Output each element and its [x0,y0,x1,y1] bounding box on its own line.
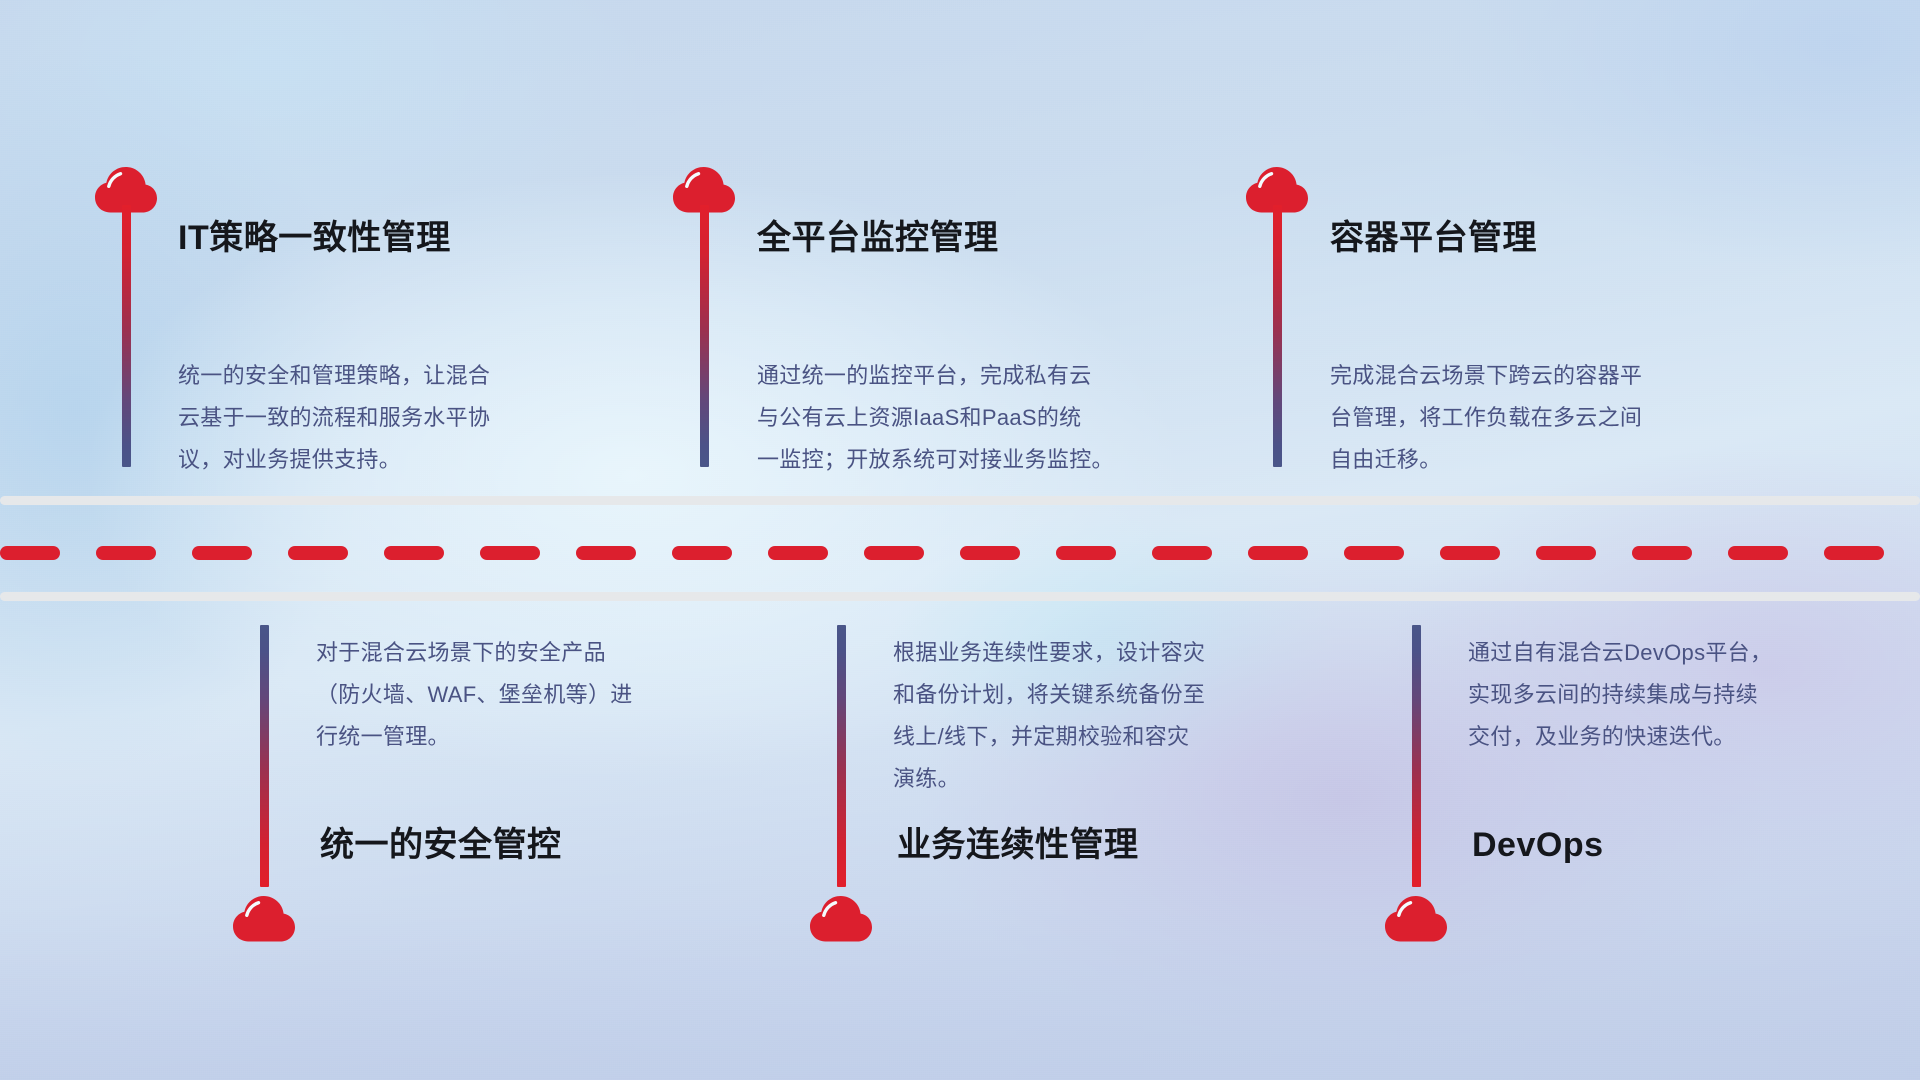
description-line: 根据业务连续性要求，设计容灾 [893,632,1333,674]
dash-segment [1056,546,1116,560]
description-line: （防火墙、WAF、堡垒机等）进 [316,674,756,716]
description-line: 交付，及业务的快速迭代。 [1468,716,1908,758]
divider-line-lower [0,592,1920,601]
dash-segment [1152,546,1212,560]
dash-segment [384,546,444,560]
description-line: 线上/线下，并定期校验和容灾 [893,716,1333,758]
dash-segment [480,546,540,560]
description-line: 云基于一致的流程和服务水平协 [178,397,618,439]
description-line: 议，对业务提供支持。 [178,439,618,481]
dash-segment [192,546,252,560]
description-line: 和备份计划，将关键系统备份至 [893,674,1333,716]
dash-segment [1248,546,1308,560]
item-description: 完成混合云场景下跨云的容器平台管理，将工作负载在多云之间自由迁移。 [1330,355,1770,481]
connector-stem [700,205,709,467]
dash-segment [1344,546,1404,560]
description-line: 通过统一的监控平台，完成私有云 [757,355,1217,397]
dash-segment [672,546,732,560]
divider-line-upper [0,496,1920,505]
description-line: 台管理，将工作负载在多云之间 [1330,397,1770,439]
dash-segment [1440,546,1500,560]
description-line: 演练。 [893,758,1333,800]
item-title: 统一的安全管控 [320,825,562,866]
dash-segment [288,546,348,560]
connector-stem [1273,205,1282,467]
connector-stem [837,625,846,887]
dashed-separator [0,546,1920,560]
description-line: 自由迁移。 [1330,439,1770,481]
description-line: 通过自有混合云DevOps平台， [1468,632,1908,674]
item-title: 容器平台管理 [1330,218,1537,259]
description-line: 行统一管理。 [316,716,756,758]
dash-segment [1728,546,1788,560]
item-description: 对于混合云场景下的安全产品（防火墙、WAF、堡垒机等）进行统一管理。 [316,632,756,758]
infographic-canvas: IT策略一致性管理 统一的安全和管理策略，让混合云基于一致的流程和服务水平协议，… [0,0,1920,1080]
dash-segment [768,546,828,560]
description-line: 完成混合云场景下跨云的容器平 [1330,355,1770,397]
description-line: 对于混合云场景下的安全产品 [316,632,756,674]
item-description: 通过自有混合云DevOps平台，实现多云间的持续集成与持续交付，及业务的快速迭代… [1468,632,1908,758]
cloud-icon [231,893,297,943]
dash-segment [0,546,60,560]
item-description: 根据业务连续性要求，设计容灾和备份计划，将关键系统备份至线上/线下，并定期校验和… [893,632,1333,800]
item-title: 业务连续性管理 [897,825,1139,866]
connector-stem [1412,625,1421,887]
description-line: 一监控；开放系统可对接业务监控。 [757,439,1217,481]
dash-segment [1536,546,1596,560]
dash-segment [576,546,636,560]
item-description: 统一的安全和管理策略，让混合云基于一致的流程和服务水平协议，对业务提供支持。 [178,355,618,481]
connector-stem [260,625,269,887]
dash-segment [960,546,1020,560]
item-title: 全平台监控管理 [757,218,999,259]
connector-stem [122,205,131,467]
dash-segment [96,546,156,560]
description-line: 实现多云间的持续集成与持续 [1468,674,1908,716]
item-title: DevOps [1472,825,1604,866]
cloud-icon [1383,893,1449,943]
dash-segment [1632,546,1692,560]
description-line: 与公有云上资源IaaS和PaaS的统 [757,397,1217,439]
description-line: 统一的安全和管理策略，让混合 [178,355,618,397]
dash-segment [1824,546,1884,560]
cloud-icon [808,893,874,943]
item-description: 通过统一的监控平台，完成私有云与公有云上资源IaaS和PaaS的统一监控；开放系… [757,355,1217,481]
dash-segment [864,546,924,560]
item-title: IT策略一致性管理 [178,218,451,259]
